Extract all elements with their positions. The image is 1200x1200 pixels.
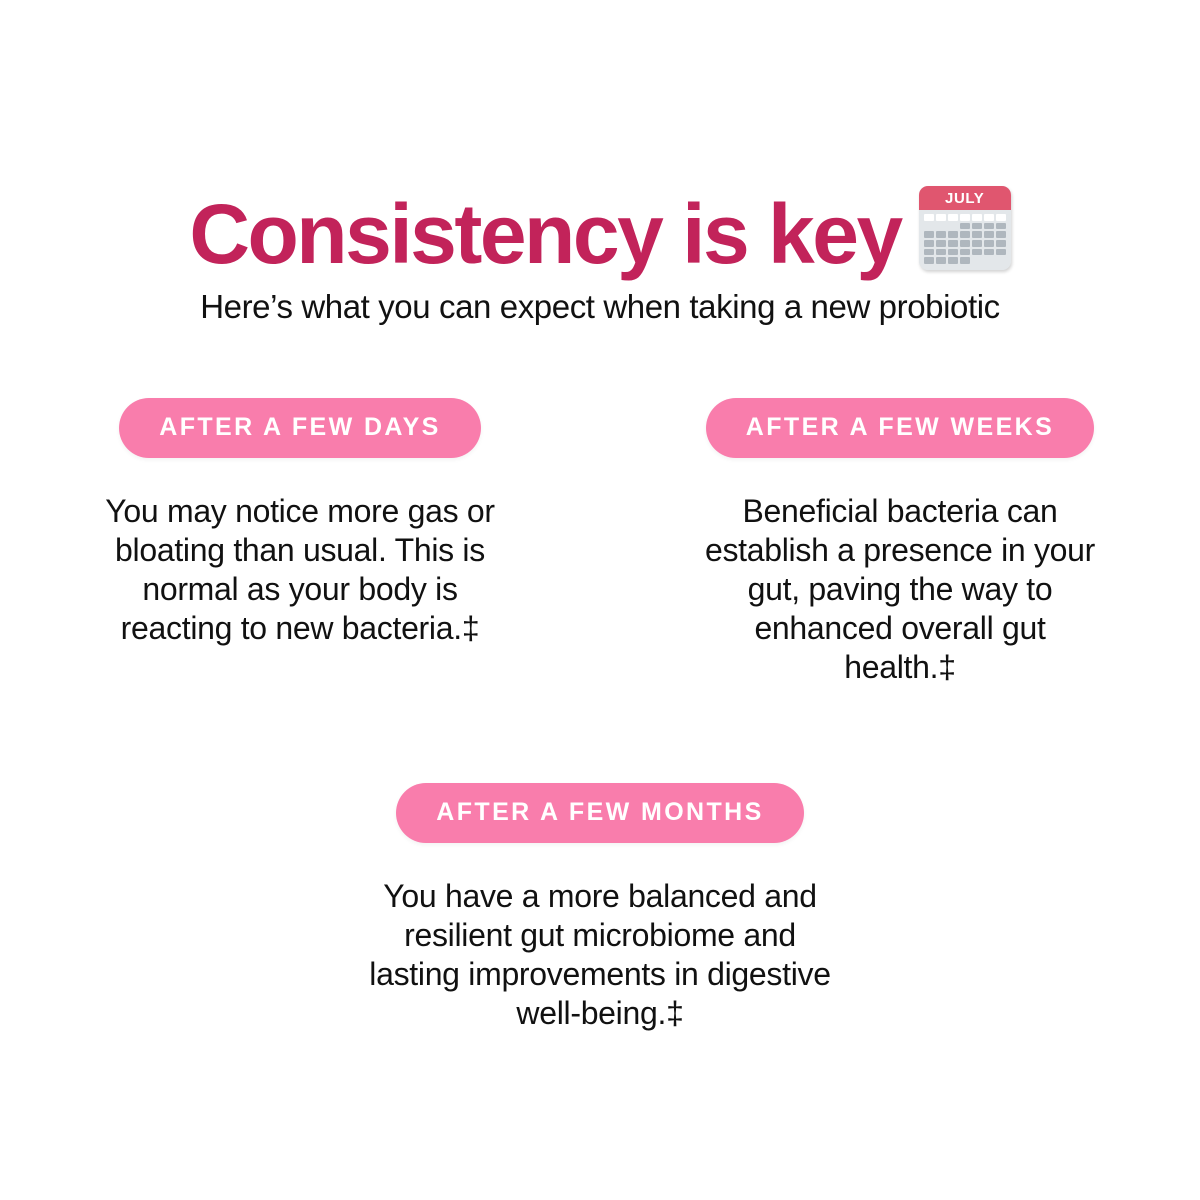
stage-after-a-few-months: AFTER A FEW MONTHS You have a more balan… <box>0 783 1200 1033</box>
calendar-cell <box>924 231 934 238</box>
badge-after-a-few-days: AFTER A FEW DAYS <box>119 398 480 458</box>
calendar-cell <box>924 223 934 230</box>
calendar-cell <box>948 249 958 256</box>
stage-after-a-few-days: AFTER A FEW DAYS You may notice more gas… <box>60 398 540 687</box>
page-title: Consistency is key <box>189 192 900 276</box>
calendar-cell <box>936 214 946 221</box>
calendar-cell <box>948 223 958 230</box>
calendar-cell <box>996 257 1006 264</box>
calendar-cell <box>924 257 934 264</box>
page-subtitle: Here’s what you can expect when taking a… <box>200 288 1000 326</box>
calendar-cell <box>948 257 958 264</box>
badge-after-a-few-weeks: AFTER A FEW WEEKS <box>706 398 1094 458</box>
calendar-cell <box>936 240 946 247</box>
calendar-cell <box>984 231 994 238</box>
calendar-cell <box>948 214 958 221</box>
calendar-july-icon: JULY <box>919 186 1011 270</box>
stage-body-after-a-few-months: You have a more balanced and resilient g… <box>365 877 835 1033</box>
calendar-cell <box>996 249 1006 256</box>
calendar-cell <box>960 257 970 264</box>
calendar-cell <box>972 240 982 247</box>
calendar-cell <box>984 249 994 256</box>
header: Consistency is key JULY <box>0 192 1200 326</box>
calendar-cell <box>972 231 982 238</box>
calendar-cell <box>996 214 1006 221</box>
calendar-cell <box>972 257 982 264</box>
calendar-cell <box>936 257 946 264</box>
calendar-cell <box>996 240 1006 247</box>
calendar-cell <box>996 231 1006 238</box>
calendar-cell <box>924 249 934 256</box>
calendar-cell <box>924 240 934 247</box>
calendar-cell <box>936 223 946 230</box>
calendar-cell <box>984 214 994 221</box>
calendar-grid <box>919 210 1011 270</box>
stage-body-after-a-few-days: You may notice more gas or bloating than… <box>100 492 500 648</box>
calendar-cell <box>924 214 934 221</box>
calendar-cell <box>972 223 982 230</box>
title-row: Consistency is key JULY <box>189 192 1010 276</box>
calendar-cell <box>948 240 958 247</box>
calendar-cell <box>960 249 970 256</box>
badge-after-a-few-months: AFTER A FEW MONTHS <box>396 783 803 843</box>
calendar-cell <box>936 249 946 256</box>
calendar-cell <box>984 223 994 230</box>
infographic-root: Consistency is key JULY <box>0 0 1200 1200</box>
calendar-month-label: JULY <box>919 186 1011 210</box>
calendar-cell <box>984 257 994 264</box>
calendar-cell <box>996 223 1006 230</box>
calendar-cell <box>972 249 982 256</box>
calendar-cell <box>948 231 958 238</box>
calendar-cell <box>984 240 994 247</box>
calendar-cell <box>960 214 970 221</box>
calendar-cell <box>960 223 970 230</box>
calendar-cell <box>960 231 970 238</box>
calendar-cell <box>960 240 970 247</box>
calendar-cell <box>972 214 982 221</box>
stage-grid: AFTER A FEW DAYS You may notice more gas… <box>0 398 1200 687</box>
stage-after-a-few-weeks: AFTER A FEW WEEKS Beneficial bacteria ca… <box>660 398 1140 687</box>
stage-body-after-a-few-weeks: Beneficial bacteria can establish a pres… <box>700 492 1100 687</box>
calendar-cell <box>936 231 946 238</box>
